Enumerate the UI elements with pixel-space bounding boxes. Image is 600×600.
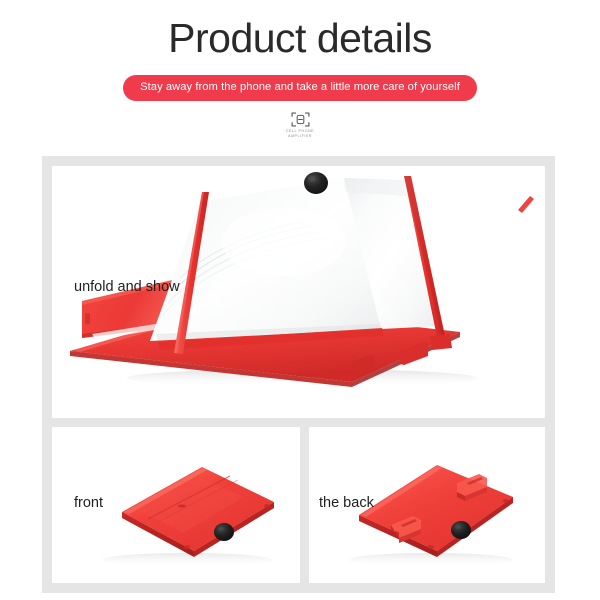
gallery-cell-back[interactable]: the back <box>309 427 545 583</box>
page-title: Product details <box>0 16 600 62</box>
gallery-divider-vertical <box>300 427 309 583</box>
brand-logo: CELL PHONE AMPLIFIER <box>0 112 600 140</box>
amplifier-knob-icon <box>214 523 234 541</box>
gallery-cell-front[interactable]: front <box>52 427 300 583</box>
page-header: Product details Stay away from the phone… <box>0 0 600 140</box>
product-gallery: unfold and show <box>42 156 555 593</box>
phone-amplifier-bracket-icon <box>291 112 310 127</box>
brand-name-line1: CELL PHONE <box>286 129 314 133</box>
gallery-cell-unfold[interactable]: unfold and show <box>52 166 545 418</box>
gallery-inner: unfold and show <box>52 166 545 583</box>
brand-name-line2: AMPLIFIER <box>288 134 312 138</box>
tagline-row: Stay away from the phone and take a litt… <box>0 75 600 101</box>
gallery-divider-horizontal <box>52 418 545 427</box>
caption-the-back: the back <box>319 495 374 511</box>
caption-front: front <box>74 495 103 511</box>
tagline-badge: Stay away from the phone and take a litt… <box>123 75 477 101</box>
brand-name: CELL PHONE AMPLIFIER <box>286 129 314 140</box>
caption-unfold-and-show: unfold and show <box>74 279 180 295</box>
amplifier-knob-icon <box>304 172 328 194</box>
amplifier-knob-icon <box>451 521 471 539</box>
